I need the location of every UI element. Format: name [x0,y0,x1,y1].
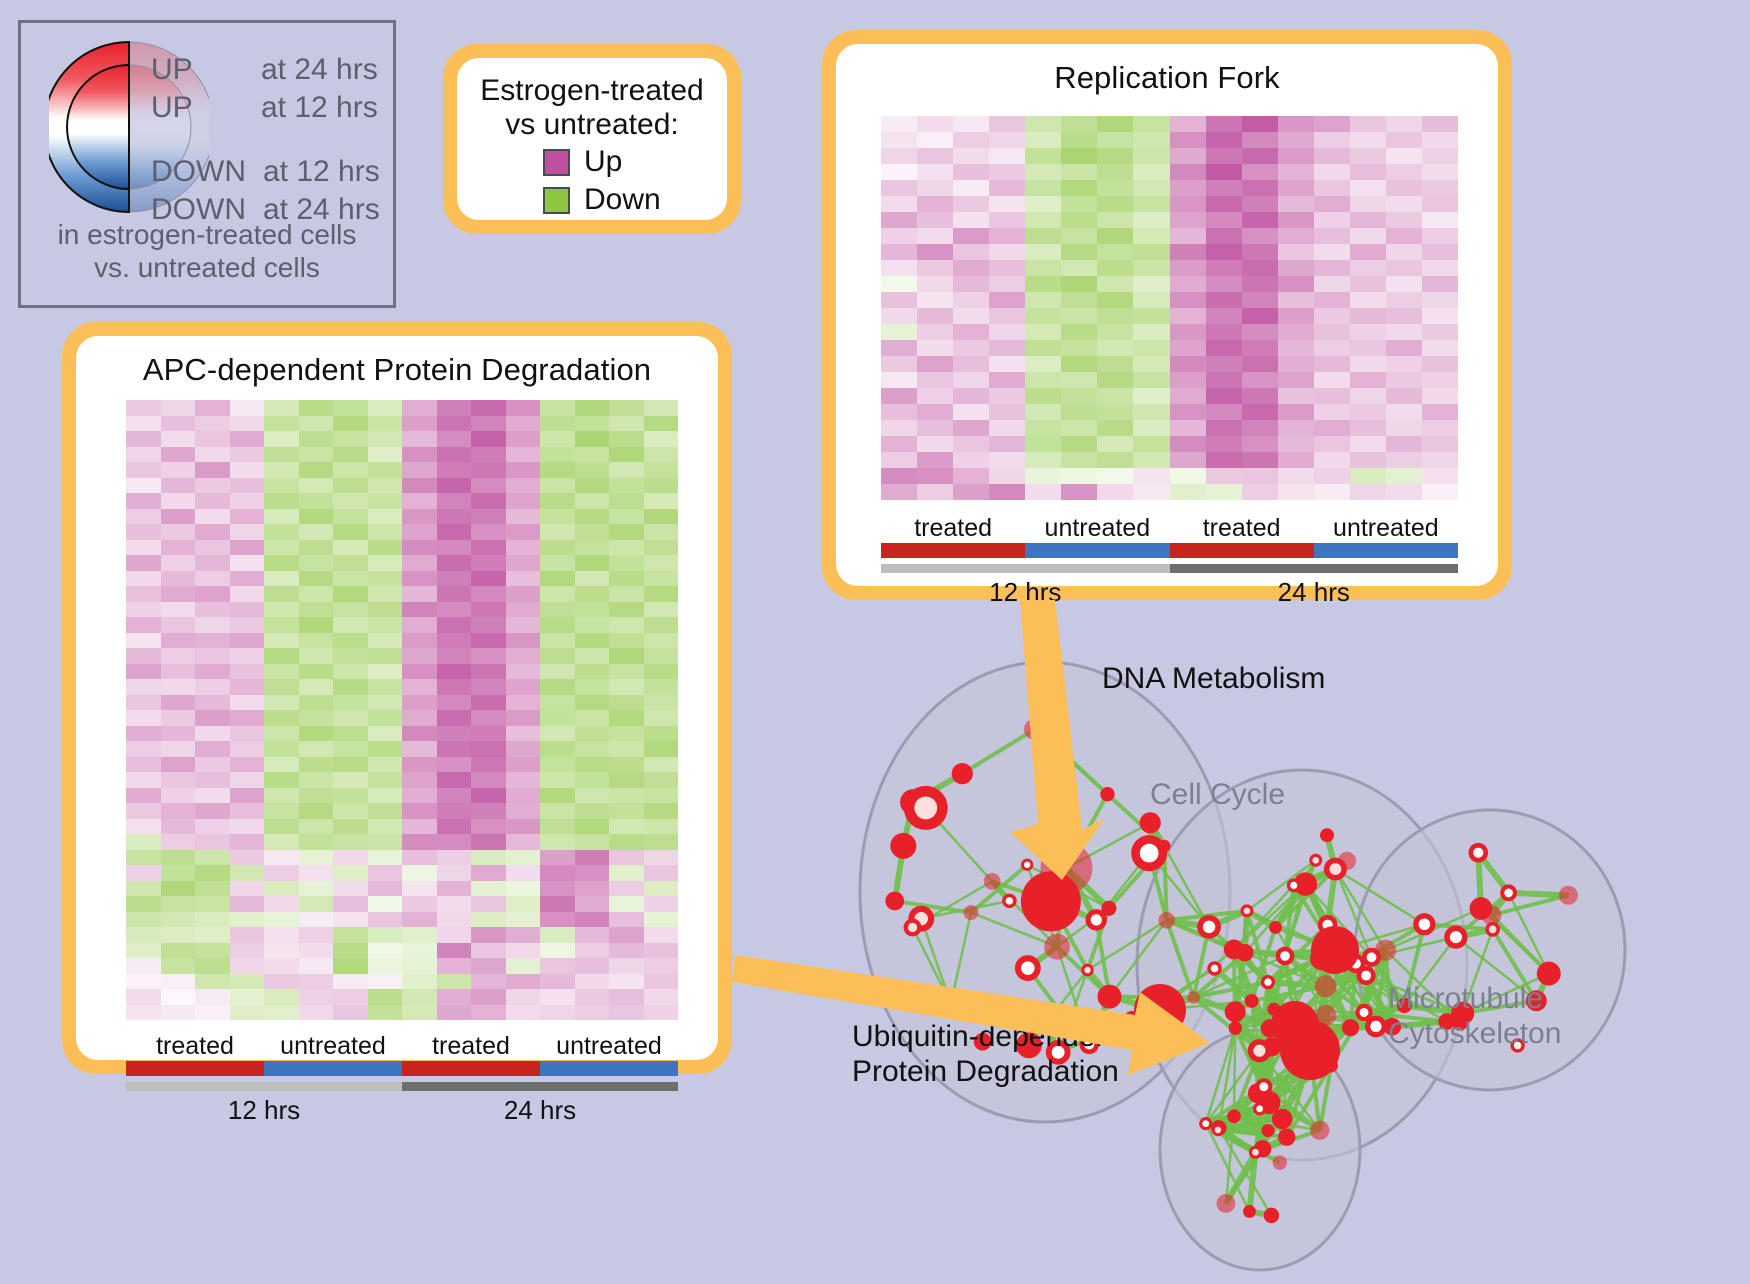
network-node-core [1091,914,1102,925]
network-node[interactable] [1229,1021,1242,1034]
network-graph [790,620,1750,1279]
network-node[interactable] [1261,1124,1274,1137]
network-node[interactable] [1158,840,1171,853]
panel-title-replication-fork: Replication Fork [836,44,1498,96]
network-node[interactable] [1273,1155,1287,1169]
cluster-label-dna-metabolism: DNA Metabolism [1102,662,1325,697]
network-node[interactable] [1269,921,1282,934]
time-label: 24 hrs [1170,577,1459,608]
network-node[interactable] [1134,984,1186,1036]
network-node[interactable] [1187,991,1200,1004]
down-label: Down [584,183,661,217]
group-bar-segment [264,1061,402,1076]
network-node-core [1215,1127,1222,1134]
apc-inner: APC-dependent Protein Degradation treate… [76,336,718,1060]
network-node-core [1280,951,1290,961]
network-node-core [1367,952,1377,962]
group-bar-segment [1170,543,1314,558]
network-node-core [1252,1149,1259,1156]
group-label: untreated [1025,514,1169,543]
network-node-core [1329,863,1341,875]
legend-footer-line2: vs. untreated cells [21,251,393,284]
up-down-key-inner: Estrogen-treated vs untreated: Up Down [457,58,727,220]
cluster-label-microtubule-cytoskeleton: Microtubule Cytoskeleton [1388,982,1561,1051]
network-node[interactable] [1100,787,1114,801]
network-node-core [1202,1120,1209,1127]
network-node[interactable] [1040,842,1092,894]
network-node-core [1450,931,1462,943]
network-node-core [1006,897,1014,905]
network-node[interactable] [1140,812,1161,833]
figure-canvas: UP at 24 hrs UP at 12 hrs DOWN at 12 hrs… [0,0,1750,1279]
expression-ring-legend: UP at 24 hrs UP at 12 hrs DOWN at 12 hrs… [18,20,396,308]
down-color-swatch [543,187,570,214]
network-node[interactable] [885,892,904,911]
time-bar-segment [402,1082,678,1091]
network-node-core [1473,848,1483,858]
group-label: untreated [1314,514,1458,543]
up-color-swatch [543,149,570,176]
legend-key: UP [151,91,261,125]
network-node[interactable] [1481,905,1501,925]
panel-apc-degradation: APC-dependent Protein Degradation treate… [62,322,732,1074]
column-group-labels-apc: treateduntreatedtreateduntreated [126,1032,678,1061]
network-node-core [1140,844,1159,863]
network-node-core [1021,961,1034,974]
legend-footer: in estrogen-treated cells vs. untreated … [21,218,393,284]
network-node[interactable] [1245,994,1259,1008]
network-node[interactable] [1225,1001,1246,1022]
column-group-labels-replication-fork: treateduntreatedtreateduntreated [881,514,1458,543]
network-node[interactable] [1310,1121,1329,1140]
time-bar-segment [881,564,1170,573]
group-bar-segment [1314,543,1458,558]
group-label: untreated [264,1032,402,1061]
key-item-down: Down [543,183,713,217]
panel-title-apc: APC-dependent Protein Degradation [76,336,718,388]
network-node-core [1489,926,1497,934]
network-node[interactable] [1224,939,1244,959]
group-bar-segment [881,543,1025,558]
network-node[interactable] [1559,886,1578,905]
group-bar-segment [126,1061,264,1076]
time-label: 24 hrs [402,1095,678,1126]
group-label: treated [1170,514,1314,543]
up-label: Up [584,145,622,179]
network-node[interactable] [1271,1001,1319,1049]
panel-replication-fork: Replication Fork treateduntreatedtreated… [822,30,1512,600]
legend-key: UP [151,53,261,87]
heatmap-replication-fork [881,116,1458,500]
time-bar-segment [126,1082,402,1091]
network-node-core [1203,921,1215,933]
network-node-core [1244,907,1251,914]
group-bar-segment [540,1061,678,1076]
legend-row-down-12: DOWN at 12 hrs [151,155,380,189]
network-node-core [1312,857,1319,864]
up-down-key-title-line1: Estrogen-treated [471,74,713,108]
heatmap-apc [126,400,678,1020]
time-bar-segment [1170,564,1459,573]
treatment-color-bar-apc [126,1061,678,1076]
network-node-core [1256,1105,1263,1112]
key-item-up: Up [543,145,713,179]
network-node[interactable] [1311,926,1359,974]
network-node[interactable] [952,763,973,784]
up-down-key-title-line2: vs untreated: [471,108,713,142]
legend-when: at 12 hrs [261,91,378,125]
legend-when: at 24 hrs [261,53,378,87]
network-node-core [1211,965,1219,973]
network-node-core [1361,971,1371,981]
legend-when: at 12 hrs [263,155,380,189]
network-node[interactable] [1272,1109,1292,1129]
up-down-color-key: Estrogen-treated vs untreated: Up Down [443,44,741,234]
network-node-core [914,796,937,819]
timepoint-color-bar-apc [126,1082,678,1091]
network-node[interactable] [1243,1205,1256,1218]
network-node-core [1360,1008,1369,1017]
network-node[interactable] [1216,1194,1235,1213]
legend-key: DOWN [151,155,263,189]
network-node-core [1024,862,1030,868]
timepoint-color-bar-replication-fork [881,564,1458,573]
network-node-core [1259,1082,1268,1091]
timepoint-labels-apc: 12 hrs24 hrs [126,1095,678,1126]
time-label: 12 hrs [126,1095,402,1126]
group-bar-segment [1025,543,1169,558]
network-node[interactable] [984,873,1001,890]
network-node[interactable] [1101,901,1116,916]
cluster-label-ubiquitin-degradation: Ubiquitin-dependent Protein Degradation [852,1020,1121,1089]
network-node[interactable] [1098,985,1122,1009]
network-node[interactable] [940,993,961,1014]
network-node-core [1290,882,1297,889]
network-node[interactable] [1315,975,1337,997]
network-node-core [1084,967,1091,974]
network-node-core [1264,978,1271,985]
network-node[interactable] [1375,940,1396,961]
network-node[interactable] [1320,828,1334,842]
time-label: 12 hrs [881,577,1170,608]
group-label: untreated [540,1032,678,1061]
network-node[interactable] [1038,729,1061,752]
legend-row-up-12: UP at 12 hrs [151,91,378,125]
network-node[interactable] [890,833,916,859]
network-node-core [908,923,917,932]
network-node[interactable] [1227,1109,1241,1123]
network-node[interactable] [1278,1129,1295,1146]
network-node[interactable] [1264,1208,1279,1223]
network-node[interactable] [964,905,979,920]
network-node[interactable] [1158,912,1175,929]
network-node[interactable] [1044,934,1070,960]
network-node-core [1370,1021,1381,1032]
group-label: treated [402,1032,540,1061]
replication-fork-inner: Replication Fork treateduntreatedtreated… [836,44,1498,586]
timepoint-labels-replication-fork: 12 hrs24 hrs [881,577,1458,608]
group-label: treated [126,1032,264,1061]
treatment-color-bar-replication-fork [881,543,1458,558]
network-node-core [1419,918,1431,930]
pathway-network-diagram: DNA Metabolism Cell Cycle Microtubule Cy… [790,620,1750,1279]
network-node-core [1253,1045,1265,1057]
legend-footer-line1: in estrogen-treated cells [21,218,393,251]
network-node-core [1504,888,1513,897]
group-label: treated [881,514,1025,543]
legend-row-up-24: UP at 24 hrs [151,53,378,87]
network-node[interactable] [1342,1019,1359,1036]
cluster-label-cell-cycle: Cell Cycle [1150,778,1285,813]
group-bar-segment [402,1061,540,1076]
